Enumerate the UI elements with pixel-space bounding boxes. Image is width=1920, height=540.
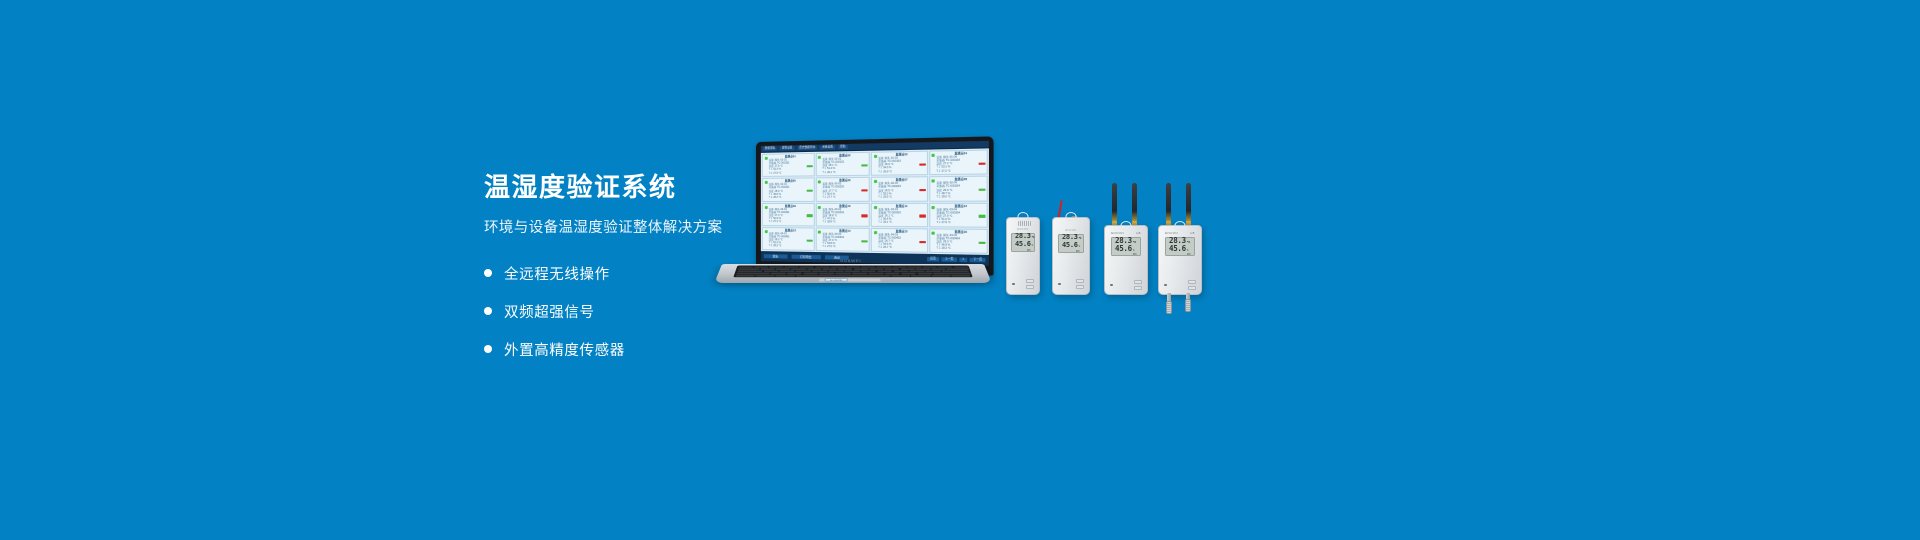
sensor-vent-icon <box>1018 221 1031 226</box>
sensor-card-row: T 226.1 ℃ <box>878 221 925 225</box>
bullet-dot-icon <box>484 269 492 277</box>
menu-tab-alarm[interactable]: 报警设置 <box>780 146 794 150</box>
sensor-card[interactable]: 监测点10设备探头-03-02采集器TC-000302温度28.8 ℃T 147… <box>815 202 869 226</box>
device-down-button[interactable] <box>1188 286 1196 290</box>
sensor-card[interactable]: 监测点09设备探头-03-01采集器TC-000301温度27.3 ℃T 152… <box>762 202 814 226</box>
sensor-field-key: T 2 <box>769 196 773 199</box>
device-brand: ENCON <box>1017 228 1028 231</box>
hanging-hook-icon <box>1018 212 1029 221</box>
keyboard-key[interactable] <box>796 275 891 277</box>
sensor-card[interactable]: 监测点02设备探头-01-02采集器TC-000102温度28.1 ℃T 151… <box>815 152 869 177</box>
status-led-icon <box>1058 283 1061 286</box>
card-status-led-icon <box>931 231 934 234</box>
card-status-led-icon <box>873 231 876 234</box>
sensor-field-key: T 2 <box>769 220 773 223</box>
product-banner: 温湿度验证系统 环境与设备温湿度验证整体解决方案 全远程无线操作 双频超强信号 … <box>0 0 1920 540</box>
sensor-card-row: T 227.2 ℃ <box>936 169 985 173</box>
card-status-led-icon <box>931 154 934 157</box>
sensor-card-row: T 229.0 ℃ <box>936 195 985 199</box>
card-status-led-icon <box>764 157 767 160</box>
device-lcd-display: 28.3 ℃ 45.6 % REC <box>1111 237 1141 256</box>
sensor-field-value: 29.0 ℃ <box>941 195 985 199</box>
menu-tab-collect[interactable]: 数据采集 <box>763 147 777 151</box>
sensor-card[interactable]: 监测点16设备探头-04-04采集器TC-000404温度29.3 ℃T 146… <box>929 228 988 254</box>
bullet-dot-icon <box>484 307 492 315</box>
device-controls <box>1159 280 1201 290</box>
list-item: 外置高精度传感器 <box>484 336 864 362</box>
laptop-screen: 数据采集 报警设置 历史数据查询 系统设置 帮助 监测点01设备探头-01-01… <box>761 141 989 266</box>
sensor-field-key: T 2 <box>822 171 826 174</box>
device-lcd-display: 28.3 ℃ 45.6 % REC <box>1058 234 1084 253</box>
sensor-field-key: T 2 <box>822 245 826 248</box>
device-controls <box>1007 279 1039 289</box>
sensor-card[interactable]: 监测点15设备探头-04-03采集器TC-000403温度26.7 ℃T 154… <box>871 228 928 253</box>
humidity-value: 45.6 <box>1015 241 1031 248</box>
sensor-card[interactable]: 监测点12设备探头-03-04采集器TC-000304温度27.9 ℃T 151… <box>929 202 988 227</box>
device-lcd-display: 28.3 ℃ 45.6 % REC <box>1011 233 1035 252</box>
device-label-row: ENCON H8 <box>1105 231 1147 235</box>
status-led-icon <box>1164 284 1167 287</box>
sensor-field-value: 27.3 ℃ <box>773 220 812 223</box>
sensor-field-value: 26.5 ℃ <box>883 195 925 198</box>
sensor-card-grid: 监测点01设备探头-01-01采集器TC-000101温度27.6 ℃T 152… <box>761 148 989 255</box>
sensor-field-key: T 2 <box>769 171 773 174</box>
device-lcd-display: 28.3 ℃ 45.6 % REC <box>1165 237 1195 256</box>
card-status-led-icon <box>764 205 767 208</box>
antenna-right-icon <box>1186 183 1191 223</box>
device-up-button[interactable] <box>1188 280 1196 284</box>
card-status-led-icon <box>873 155 876 158</box>
sensor-field-value: 27.0 ℃ <box>827 245 868 249</box>
sensor-field-value: 27.2 ℃ <box>941 169 985 173</box>
sensor-card-row: T 227.0 ℃ <box>822 245 867 249</box>
sensor-card-row: T 228.4 ℃ <box>769 196 812 199</box>
card-status-led-icon <box>818 205 821 208</box>
sensor-card-row: T 227.9 ℃ <box>936 221 985 225</box>
feature-label: 外置高精度传感器 <box>504 339 625 360</box>
card-status-led-icon <box>818 230 821 233</box>
sensor-field-value: 28.4 ℃ <box>773 196 812 199</box>
device-down-button[interactable] <box>1026 285 1034 289</box>
sensor-card[interactable]: 监测点07设备探头-02-03采集器TC-000203温度26.5 ℃T 155… <box>871 176 928 201</box>
pagination: 首页 上一页 1 下一页 <box>927 257 986 263</box>
feature-label: 全远程无线操作 <box>504 263 610 284</box>
device-brand: ENCON <box>1111 231 1124 235</box>
keyboard-row <box>735 275 971 277</box>
menu-tab-help[interactable]: 帮助 <box>838 145 848 149</box>
device-controls <box>1105 280 1147 290</box>
sensor-field-value: 28.2 ℃ <box>773 245 812 249</box>
page-first-button[interactable]: 首页 <box>927 257 939 262</box>
trackpad-brand-badge: HUAWEI <box>825 278 848 281</box>
keyboard-key[interactable] <box>775 275 794 277</box>
lcd-status-text: REC <box>1169 253 1191 256</box>
sensor-card-row: T 228.1 ℃ <box>822 170 867 174</box>
antenna-left-icon <box>1166 183 1171 223</box>
sensor-field-value: 27.6 ℃ <box>773 171 812 175</box>
humidity-unit: % <box>1133 249 1135 252</box>
laptop-base: HUAWEI <box>714 264 991 283</box>
humidity-value: 45.6 <box>1062 242 1078 249</box>
card-status-led-icon <box>764 230 767 233</box>
sensor-card[interactable]: 监测点11设备探头-03-03采集器TC-000303温度26.1 ℃T 156… <box>871 202 928 227</box>
sensor-field-value: 26.7 ℃ <box>883 246 925 250</box>
list-item: 双频超强信号 <box>484 298 864 324</box>
hanging-hook-icon <box>1175 221 1186 230</box>
sensor-field-key: T 2 <box>936 247 940 250</box>
hanging-hook-icon <box>1121 221 1132 230</box>
device-wireless-external-probe: ENCON H8 28.3 ℃ 45.6 % REC <box>1158 183 1202 313</box>
keyboard-key[interactable] <box>911 275 930 277</box>
probe-sensor-cap-secondary <box>1185 299 1192 312</box>
device-logger-basic: ENCON 28.3 ℃ 45.6 % REC <box>1006 217 1040 295</box>
refresh-button[interactable]: 更新 <box>764 254 787 259</box>
card-status-led-icon <box>818 181 821 184</box>
device-up-button[interactable] <box>1076 279 1084 283</box>
sensor-field-key: T 2 <box>769 245 773 248</box>
sensor-card-row: T 228.8 ℃ <box>822 220 867 223</box>
antenna-right-icon <box>1132 183 1137 223</box>
sensor-field-value: 26.1 ℃ <box>883 221 925 225</box>
sensor-card[interactable]: 监测点14设备探头-04-02采集器TC-000402温度27.0 ℃T 153… <box>815 227 869 252</box>
keyboard-key[interactable] <box>755 275 774 277</box>
device-label-row: ENCON H8 <box>1159 231 1201 235</box>
bullet-dot-icon <box>484 345 492 353</box>
card-status-led-icon <box>764 181 767 184</box>
sensor-card[interactable]: 监测点13设备探头-04-01采集器TC-000401温度28.2 ℃T 150… <box>762 227 814 251</box>
sensor-card[interactable]: 监测点08设备探头-02-04采集器TC-000204温度29.0 ℃T 148… <box>929 176 988 201</box>
temperature-unit: ℃ <box>1133 241 1136 244</box>
laptop-brand-logo: HUAWEI <box>840 258 861 263</box>
device-button-stack <box>1134 280 1142 290</box>
antenna-left-icon <box>1112 183 1117 223</box>
sensor-field-key: T 2 <box>878 246 882 249</box>
device-controls <box>1053 279 1089 289</box>
card-status-led-icon <box>818 156 821 159</box>
humidity-unit: % <box>1079 246 1081 249</box>
sensor-field-value: 29.3 ℃ <box>941 247 985 251</box>
sensor-field-key: T 2 <box>822 220 826 223</box>
sensor-field-value: 28.1 ℃ <box>827 170 868 174</box>
sensor-card[interactable]: 监测点05设备探头-02-01采集器TC-000201温度28.4 ℃T 149… <box>762 178 814 202</box>
sensor-card-row: T 227.7 ℃ <box>822 195 867 198</box>
device-model: H8 <box>1190 231 1195 235</box>
feature-label: 双频超强信号 <box>504 301 595 322</box>
probe-sensor-cap <box>1166 301 1173 314</box>
lcd-status-text: REC <box>1115 253 1137 256</box>
sensor-field-key: T 2 <box>878 170 882 173</box>
status-led-icon <box>1012 283 1015 286</box>
device-model: H8 <box>1136 231 1141 235</box>
keyboard-key[interactable] <box>891 275 910 277</box>
lcd-status-text: REC <box>1062 250 1080 253</box>
humidity-value: 45.6 <box>1115 245 1132 253</box>
card-status-led-icon <box>931 205 934 208</box>
device-brand: ENCON <box>1165 231 1178 235</box>
sensor-field-key: T 2 <box>936 169 940 172</box>
sensor-field-key: T 2 <box>936 221 940 224</box>
page-next-button[interactable]: 下一页 <box>970 258 986 263</box>
page-prev-button[interactable]: 上一页 <box>941 257 956 262</box>
card-status-led-icon <box>931 180 934 183</box>
sensor-field-value: 27.7 ℃ <box>827 195 868 198</box>
laptop-keyboard[interactable] <box>733 266 972 278</box>
device-wireless-dual-band: ENCON H8 28.3 ℃ 45.6 % REC <box>1104 183 1148 295</box>
device-up-button[interactable] <box>1026 279 1034 283</box>
sensor-field-key: T 2 <box>878 221 882 224</box>
laptop-lid: 数据采集 报警设置 历史数据查询 系统设置 帮助 监测点01设备探头-01-01… <box>756 136 994 275</box>
device-down-button[interactable] <box>1076 285 1084 289</box>
sensor-card[interactable]: 监测点03设备探头-01-03采集器TC-000103温度26.9 ℃T 154… <box>871 151 928 176</box>
menu-tab-history[interactable]: 历史数据查询 <box>797 146 817 150</box>
sensor-card[interactable]: 监测点04设备探头-01-04采集器TC-000104温度27.2 ℃T 153… <box>929 150 988 176</box>
sensor-card[interactable]: 监测点06设备探头-02-02采集器TC-000202温度27.7 ℃T 150… <box>815 177 869 201</box>
card-status-led-icon <box>873 205 876 208</box>
sensor-card-row: T 227.6 ℃ <box>769 171 812 175</box>
device-logger-external-probe: ENCON 28.3 ℃ 45.6 % REC <box>1052 200 1090 295</box>
humidity-unit: % <box>1187 249 1189 252</box>
menu-tab-settings[interactable]: 系统设置 <box>820 145 835 149</box>
sensor-card[interactable]: 监测点01设备探头-01-01采集器TC-000101温度27.6 ℃T 152… <box>762 153 814 177</box>
page-number[interactable]: 1 <box>959 257 967 262</box>
sensor-field-value: 28.8 ℃ <box>827 220 868 223</box>
hanging-hook-icon <box>1066 212 1077 221</box>
sensor-field-key: T 2 <box>878 195 882 198</box>
keyboard-key[interactable] <box>735 275 754 277</box>
sensor-field-key: T 2 <box>822 196 826 199</box>
sensor-card-row: T 226.5 ℃ <box>878 195 925 198</box>
sensor-card-row: T 229.3 ℃ <box>936 247 985 251</box>
device-up-button[interactable] <box>1134 280 1142 284</box>
sensor-field-value: 27.9 ℃ <box>941 221 985 225</box>
card-status-led-icon <box>873 180 876 183</box>
lcd-status-text: REC <box>1015 249 1031 252</box>
sensor-field-key: T 2 <box>936 195 940 198</box>
device-brand: ENCON <box>1065 229 1076 232</box>
keyboard-key[interactable] <box>931 275 950 277</box>
sensor-card-row: T 226.7 ℃ <box>878 246 925 250</box>
device-button-stack <box>1026 279 1034 289</box>
status-led-icon <box>1110 284 1113 287</box>
keyboard-key[interactable] <box>951 275 970 277</box>
temperature-unit: ℃ <box>1032 237 1035 240</box>
sensor-card-row: T 226.9 ℃ <box>878 169 925 173</box>
temperature-unit: ℃ <box>1187 241 1190 244</box>
humidity-unit: % <box>1032 245 1034 248</box>
device-button-stack <box>1076 279 1084 289</box>
humidity-value: 45.6 <box>1169 245 1186 253</box>
device-button-stack <box>1188 280 1196 290</box>
sensor-field-value: 26.9 ℃ <box>883 169 925 173</box>
laptop-illustration: 数据采集 报警设置 历史数据查询 系统设置 帮助 监测点01设备探头-01-01… <box>722 142 984 298</box>
device-down-button[interactable] <box>1134 286 1142 290</box>
export-button[interactable]: 打印导出 <box>791 254 821 259</box>
sensor-card-row: T 227.3 ℃ <box>769 220 812 223</box>
sensor-card-row: T 228.2 ℃ <box>769 245 812 249</box>
temperature-unit: ℃ <box>1079 238 1082 241</box>
